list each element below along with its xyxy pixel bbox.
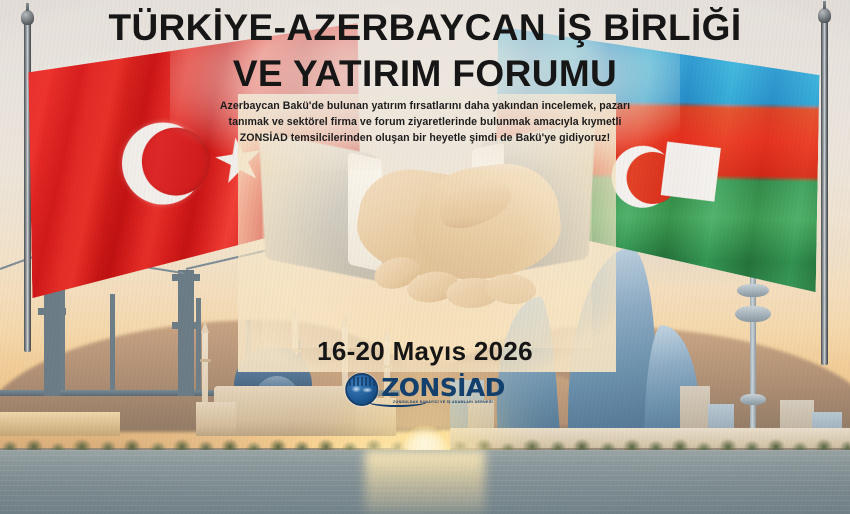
page-title: TÜRKİYE-AZERBAYCAN İŞ BİRLİĞİ VE YATIRIM…	[0, 8, 850, 93]
logo-text-group: ZONSİAD ZONGULDAK SANAYİCİ VE İŞ ADAMLAR…	[381, 375, 505, 405]
fingers	[374, 246, 542, 318]
water	[0, 450, 850, 514]
description-text: Azerbaycan Bakü'de bulunan yatırım fırsa…	[215, 98, 635, 146]
logo-swoosh	[367, 396, 427, 407]
zonsiad-logo[interactable]: ZONSİAD ZONGULDAK SANAYİCİ VE İŞ ADAMLAR…	[345, 373, 505, 406]
handshake-illustration	[262, 118, 592, 348]
event-date: 16-20 Mayıs 2026	[0, 336, 850, 367]
event-poster: TÜRKİYE-AZERBAYCAN İŞ BİRLİĞİ VE YATIRIM…	[0, 0, 850, 514]
headline-line-2: VE YATIRIM FORUMU	[0, 54, 850, 93]
headline-line-1: TÜRKİYE-AZERBAYCAN İŞ BİRLİĞİ	[0, 8, 850, 47]
